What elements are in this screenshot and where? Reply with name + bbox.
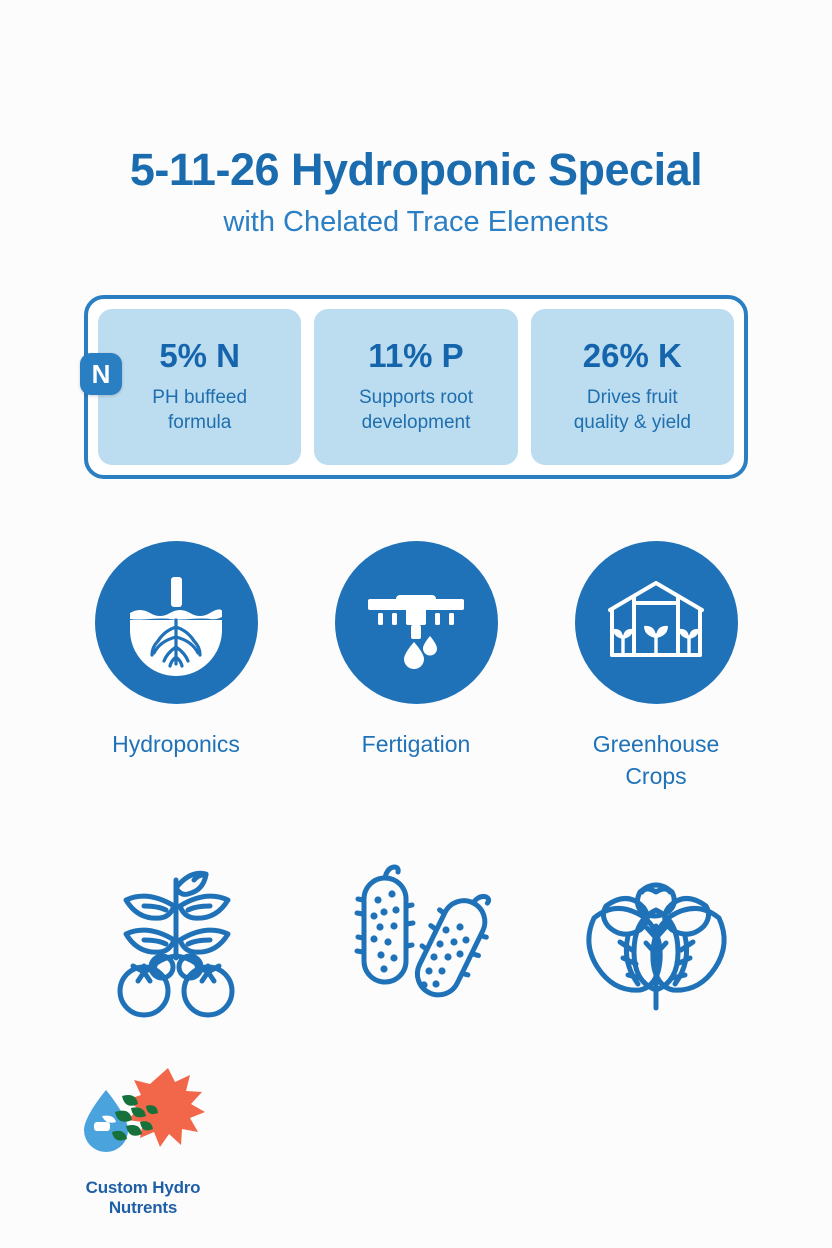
usecase-hydroponics: Hydroponics (76, 541, 276, 792)
npk-value: 26% K (583, 339, 682, 372)
brand-name-line: Nutrents (86, 1198, 201, 1218)
brand-name-line: Custom Hydro (86, 1178, 201, 1198)
cucumber-icon (334, 854, 499, 1019)
npk-desc-line: quality & yield (574, 411, 691, 435)
nitrogen-badge-icon: N (80, 353, 122, 395)
crop-lettuce (556, 847, 756, 1027)
npk-panel: N 5% N PH buffeed formula 11% P Supports… (84, 295, 748, 479)
usecase-label-line: Crops (593, 760, 720, 792)
npk-description: Supports root development (359, 386, 473, 435)
npk-description: Drives fruit quality & yield (574, 386, 691, 435)
npk-description: PH buffeed formula (152, 386, 247, 435)
lettuce-icon (574, 854, 739, 1019)
npk-value: 5% N (159, 339, 240, 372)
npk-desc-line: Drives fruit (574, 386, 691, 410)
usecase-label: Fertigation (362, 728, 471, 760)
page-subtitle: with Chelated Trace Elements (0, 207, 832, 239)
npk-desc-line: formula (152, 411, 247, 435)
hydroponics-roots-icon (116, 563, 236, 683)
header: 5-11-26 Hydroponic Special with Chelated… (0, 146, 832, 239)
usecase-greenhouse: Greenhouse Crops (556, 541, 756, 792)
usecase-label-line: Fertigation (362, 728, 471, 760)
usecase-label: Greenhouse Crops (593, 728, 720, 792)
page-title: 5-11-26 Hydroponic Special (0, 146, 832, 193)
poster-root: 5-11-26 Hydroponic Special with Chelated… (0, 0, 832, 1248)
npk-card-potassium: 26% K Drives fruit quality & yield (531, 309, 734, 465)
npk-card-nitrogen: N 5% N PH buffeed formula (98, 309, 301, 465)
usecase-label: Hydroponics (112, 728, 240, 760)
greenhouse-icon (596, 563, 716, 683)
npk-card-phosphorus: 11% P Supports root development (314, 309, 517, 465)
usecase-row: Hydroponics (76, 541, 756, 792)
fertigation-dripper-icon (356, 563, 476, 683)
npk-desc-line: PH buffeed (152, 386, 247, 410)
npk-desc-line: Supports root (359, 386, 473, 410)
crop-tomato (76, 847, 276, 1027)
crop-cucumber (316, 847, 516, 1027)
tomato-plant-icon (94, 854, 259, 1019)
usecase-label-line: Greenhouse (593, 728, 720, 760)
usecase-icon-circle (335, 541, 498, 704)
usecase-icon-circle (575, 541, 738, 704)
usecase-icon-circle (95, 541, 258, 704)
crop-row (76, 847, 756, 1027)
waterdrop-leaves-sun-logo (68, 1066, 218, 1176)
usecase-fertigation: Fertigation (316, 541, 516, 792)
brand-name: Custom Hydro Nutrents (86, 1178, 201, 1218)
usecase-label-line: Hydroponics (112, 728, 240, 760)
brand-logo: Custom Hydro Nutrents (38, 1066, 248, 1218)
npk-value: 11% P (368, 339, 463, 372)
npk-desc-line: development (359, 411, 473, 435)
